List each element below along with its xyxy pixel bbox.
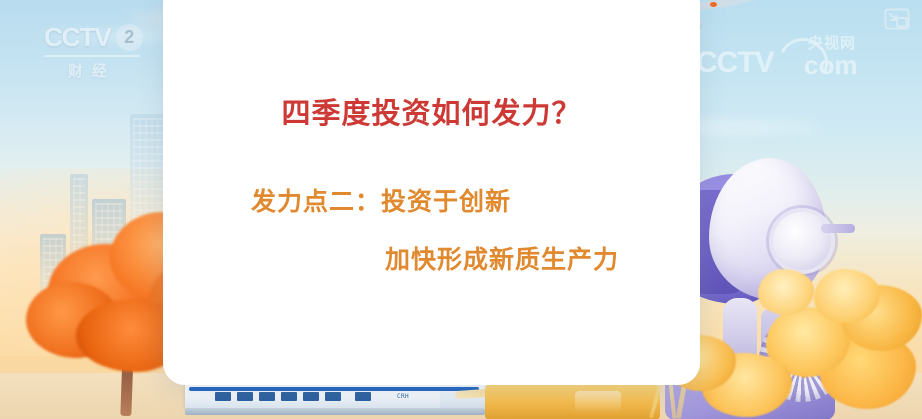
slide-card: 四季度投资如何发力？ 发力点二：投资于创新 加快形成新质生产力 <box>163 0 700 385</box>
cctv-com-watermark: CCTV 央视网 com <box>696 36 886 80</box>
cctv2-logo-subtitle: 财经 <box>44 60 140 81</box>
robot-ear-disc <box>769 208 835 274</box>
train-window <box>355 392 371 401</box>
train-stripe <box>189 387 479 391</box>
cctv2-logo-divider <box>44 55 140 57</box>
slide-bullet-line-1: 发力点二：投资于创新 <box>163 182 700 218</box>
skyscraper <box>40 234 66 324</box>
train-window <box>281 392 297 401</box>
train-skirt <box>185 408 485 415</box>
slide-title: 四季度投资如何发力？ <box>163 90 700 132</box>
machine-highlight <box>575 391 621 413</box>
cctv2-channel-logo: CCTV 2 财经 <box>44 22 174 80</box>
watermark-cctv-text: CCTV <box>696 46 774 80</box>
slide-bullet-line-2: 加快形成新质生产力 <box>163 240 700 276</box>
train-window <box>237 392 253 401</box>
picture-in-picture-icon[interactable] <box>884 8 910 30</box>
train-window <box>215 392 231 401</box>
robot-turbine <box>759 316 845 402</box>
broadcast-screen: CRH AI <box>0 0 922 419</box>
cctv2-logo-row: CCTV 2 <box>44 22 174 53</box>
machine-body <box>485 383 660 419</box>
train-label: CRH <box>397 393 409 400</box>
slide-bullet-list: 发力点二：投资于创新 加快形成新质生产力 <box>163 182 700 276</box>
slide-card-content: 四季度投资如何发力？ 发力点二：投资于创新 加快形成新质生产力 <box>163 0 700 385</box>
train-window <box>259 392 275 401</box>
skyscraper <box>70 174 88 324</box>
drone-rotor-hub <box>710 2 717 7</box>
train-window <box>325 392 341 401</box>
train-window <box>303 392 319 401</box>
skyscraper <box>92 199 126 324</box>
cctv2-logo-wordmark: CCTV <box>44 22 111 53</box>
cctv2-logo-channel-number: 2 <box>116 24 143 51</box>
watermark-com-text: com <box>804 50 857 81</box>
robot-antenna <box>821 224 855 233</box>
